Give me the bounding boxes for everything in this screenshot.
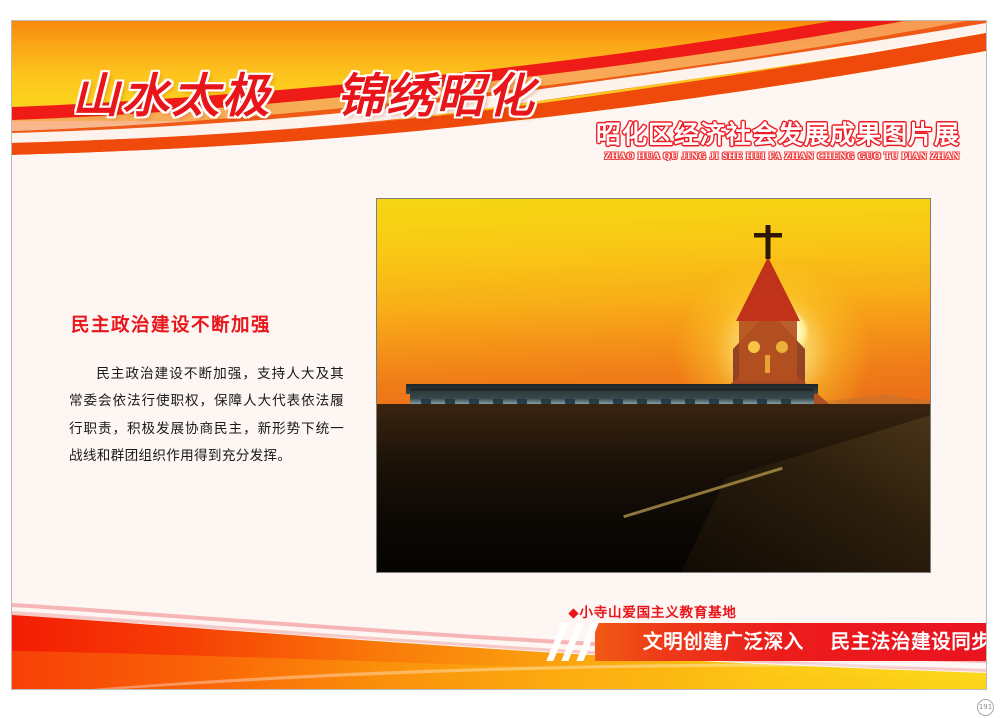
poster-footer: 文明创建广泛深入 民主法治建设同步发展 — [12, 559, 986, 689]
banner-slogan-part2: 民主法治建设同步发展 — [831, 630, 986, 653]
main-title-part1: 山水太极 — [72, 69, 272, 124]
exhibition-subtitle: 昭化区经济社会发展成果图片展 — [596, 121, 960, 149]
photo-sunset-church — [376, 198, 931, 573]
banner-slash-decoration — [552, 623, 608, 661]
banner-slogan: 文明创建广泛深入 民主法治建设同步发展 — [643, 623, 986, 661]
main-title-part2: 锦绣昭化 — [337, 69, 537, 124]
poster-canvas: 山水太极 锦绣昭化 昭化区经济社会发展成果图片展 ZHAO HUA QU JIN… — [11, 20, 987, 690]
page-title: 山水太极 锦绣昭化 — [72, 57, 537, 126]
subtitle-block: 昭化区经济社会发展成果图片展 ZHAO HUA QU JING JI SHE H… — [596, 121, 960, 161]
article-body: 民主政治建设不断加强，支持人大及其常委会依法行使职权，保障人大代表依法履行职责，… — [69, 361, 344, 471]
poster-header: 山水太极 锦绣昭化 昭化区经济社会发展成果图片展 ZHAO HUA QU JIN… — [12, 21, 986, 161]
banner-slogan-part1: 文明创建广泛深入 — [643, 630, 804, 653]
article-block: 民主政治建设不断加强 民主政治建设不断加强，支持人大及其常委会依法行使职权，保障… — [69, 311, 344, 471]
exhibition-subtitle-pinyin: ZHAO HUA QU JING JI SHE HUI FA ZHAN CHEN… — [596, 152, 960, 162]
watermark-badge: 191 — [977, 699, 994, 716]
article-heading: 民主政治建设不断加强 — [71, 311, 344, 337]
footer-banner: 文明创建广泛深入 民主法治建设同步发展 — [595, 623, 986, 661]
